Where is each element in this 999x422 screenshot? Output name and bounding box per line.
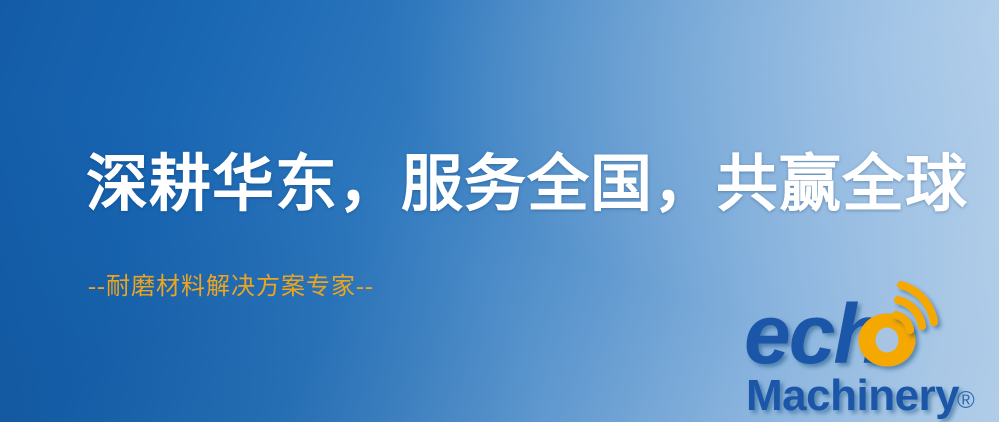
logo-tagline: Machinery xyxy=(746,371,960,420)
logo-tagline-text: Machinery xyxy=(746,371,960,420)
banner-subtitle: --耐磨材料解决方案专家-- xyxy=(88,266,374,301)
hero-banner: 深耕华东，服务全国，共赢全球 --耐磨材料解决方案专家-- ech xyxy=(0,0,999,422)
page-title: 深耕华东，服务全国，共赢全球 xyxy=(86,152,968,219)
registered-trademark-icon: ® xyxy=(957,387,975,414)
company-logo[interactable]: ech Machinery ® xyxy=(744,288,992,420)
logo-svg: ech Machinery ® xyxy=(744,288,992,420)
